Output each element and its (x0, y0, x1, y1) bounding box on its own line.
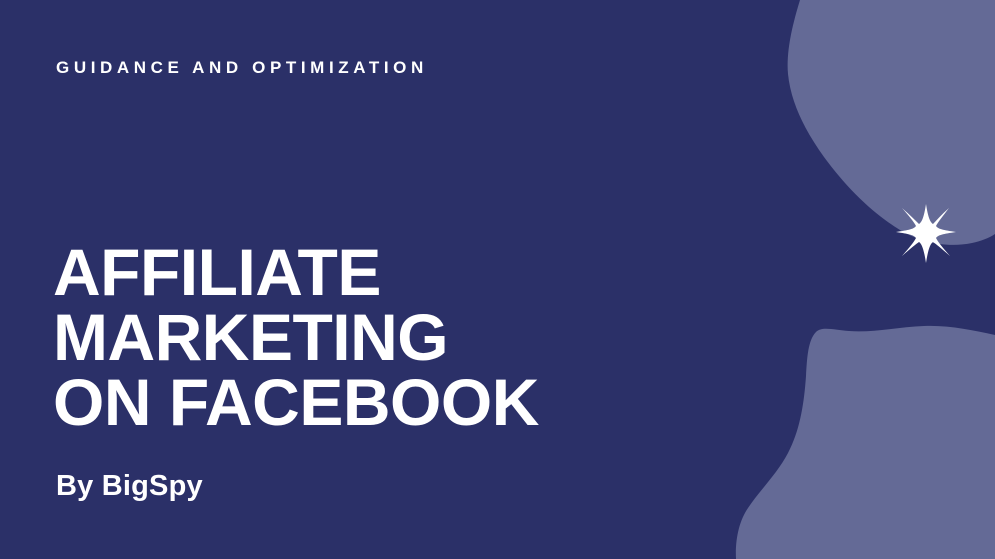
presentation-slide: GUIDANCE AND OPTIMIZATION AFFILIATE MARK… (0, 0, 995, 559)
sparkle-star (896, 204, 956, 263)
slide-text-content: GUIDANCE AND OPTIMIZATION AFFILIATE MARK… (56, 0, 756, 559)
blob-bottom-right (736, 326, 995, 559)
page-title: AFFILIATE MARKETING ON FACEBOOK (53, 240, 539, 435)
author-byline: By BigSpy (56, 469, 203, 503)
blob-top-right (788, 0, 995, 245)
title-line-3: ON FACEBOOK (53, 370, 539, 435)
title-line-1: AFFILIATE (53, 240, 539, 305)
title-line-2: MARKETING (53, 305, 539, 370)
slide-eyebrow: GUIDANCE AND OPTIMIZATION (56, 57, 428, 79)
